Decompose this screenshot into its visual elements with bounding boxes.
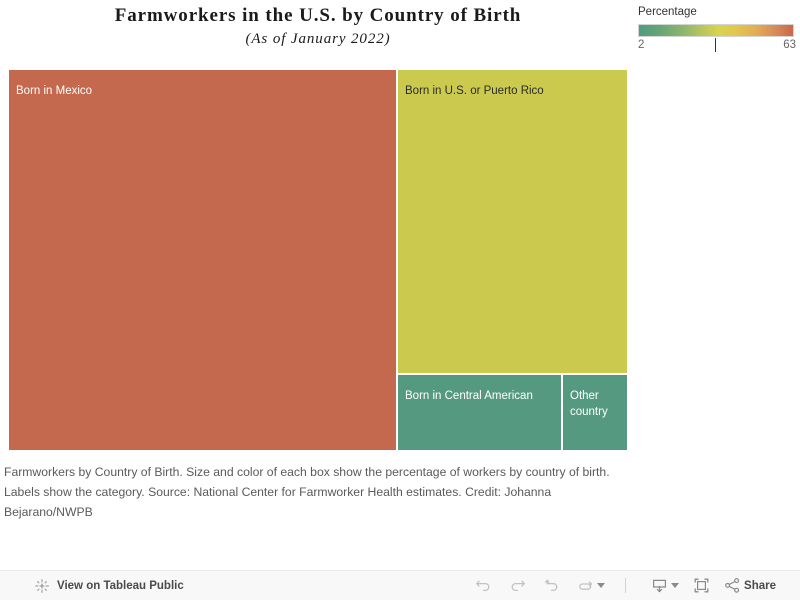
tableau-logo-icon <box>34 578 50 594</box>
share-button[interactable]: Share <box>724 577 776 594</box>
refresh-icon <box>577 578 594 593</box>
treemap-chart[interactable]: Born in MexicoBorn in U.S. or Puerto Ric… <box>8 69 628 451</box>
share-label: Share <box>744 580 776 592</box>
revert-button[interactable] <box>543 578 560 593</box>
refresh-button[interactable] <box>577 578 605 593</box>
fullscreen-icon <box>693 577 710 594</box>
download-icon <box>651 577 668 594</box>
legend-title: Percentage <box>638 5 796 19</box>
treemap-cell[interactable]: Born in Central American <box>397 374 562 451</box>
tableau-toolbar: View on Tableau Public <box>0 570 800 600</box>
share-icon <box>724 577 741 594</box>
toolbar-divider <box>625 578 626 593</box>
chart-caption: Farmworkers by Country of Birth. Size an… <box>4 462 620 522</box>
legend-labels: 2 63 <box>638 39 796 55</box>
view-on-tableau-public-button[interactable]: View on Tableau Public <box>34 578 184 594</box>
treemap-cell-label: Born in U.S. or Puerto Rico <box>405 83 622 99</box>
undo-icon <box>475 578 492 593</box>
treemap-cell[interactable]: Born in Mexico <box>8 69 397 451</box>
download-button[interactable] <box>651 577 679 594</box>
chevron-down-icon[interactable] <box>671 583 679 588</box>
tableau-viz-container: Farmworkers in the U.S. by Country of Bi… <box>0 0 800 600</box>
redo-icon <box>509 578 526 593</box>
legend-gradient-fill <box>639 25 793 36</box>
chevron-down-icon[interactable] <box>597 583 605 588</box>
legend-gradient-bar[interactable] <box>638 24 794 37</box>
treemap-cell-label: Other country <box>570 388 622 420</box>
treemap-cell-label: Born in Mexico <box>16 83 391 99</box>
page-title: Farmworkers in the U.S. by Country of Bi… <box>8 4 628 28</box>
treemap-cell-label: Born in Central American <box>405 388 556 404</box>
color-legend[interactable]: Percentage 2 63 <box>638 5 796 55</box>
legend-max-label: 63 <box>783 39 796 51</box>
redo-button[interactable] <box>509 578 526 593</box>
fullscreen-button[interactable] <box>693 577 710 594</box>
view-on-tableau-public-label: View on Tableau Public <box>57 580 184 592</box>
title-block: Farmworkers in the U.S. by Country of Bi… <box>8 4 628 50</box>
treemap-cell[interactable]: Other country <box>562 374 628 451</box>
toolbar-actions: Share <box>651 577 776 594</box>
legend-min-label: 2 <box>638 39 644 51</box>
treemap-cell[interactable]: Born in U.S. or Puerto Rico <box>397 69 628 374</box>
revert-icon <box>543 578 560 593</box>
page-subtitle: (As of January 2022) <box>8 29 628 50</box>
undo-button[interactable] <box>475 578 492 593</box>
toolbar-history-controls <box>475 578 629 593</box>
